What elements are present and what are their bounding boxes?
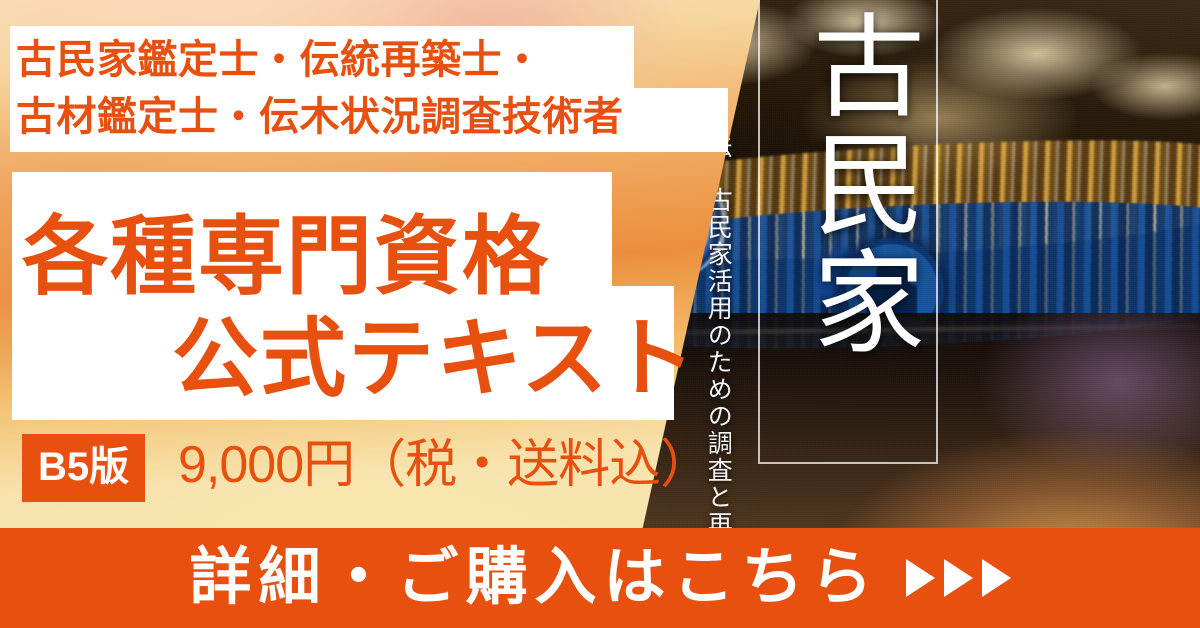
promo-banner: 古民家 伝統構法 古民家活用のための調査と再生の 古民家鑑定士・伝統再築士・ 古… — [0, 0, 1200, 628]
price-label: 9,000円（税・送料込） — [178, 438, 711, 493]
triangle-right-icon — [906, 559, 935, 597]
cta-bar[interactable]: 詳細・ご購入はこちら — [0, 528, 1200, 628]
heading-line-1: 古民家鑑定士・伝統再築士・ — [16, 32, 736, 89]
heading-line-2: 古材鑑定士・伝木状況調査技術者 — [16, 89, 736, 146]
book-title-vertical: 古民家 — [770, 8, 920, 362]
page-title-line-2: 公式テキスト — [172, 288, 697, 413]
cta-label: 詳細・ご購入はこちら — [189, 547, 879, 609]
triangle-right-icon — [982, 559, 1011, 597]
qualifications-heading: 古民家鑑定士・伝統再築士・ 古材鑑定士・伝木状況調査技術者 — [16, 26, 736, 152]
format-badge: B5版 — [22, 434, 145, 502]
triangle-right-icon — [944, 559, 973, 597]
cta-arrow-group — [906, 559, 1011, 597]
